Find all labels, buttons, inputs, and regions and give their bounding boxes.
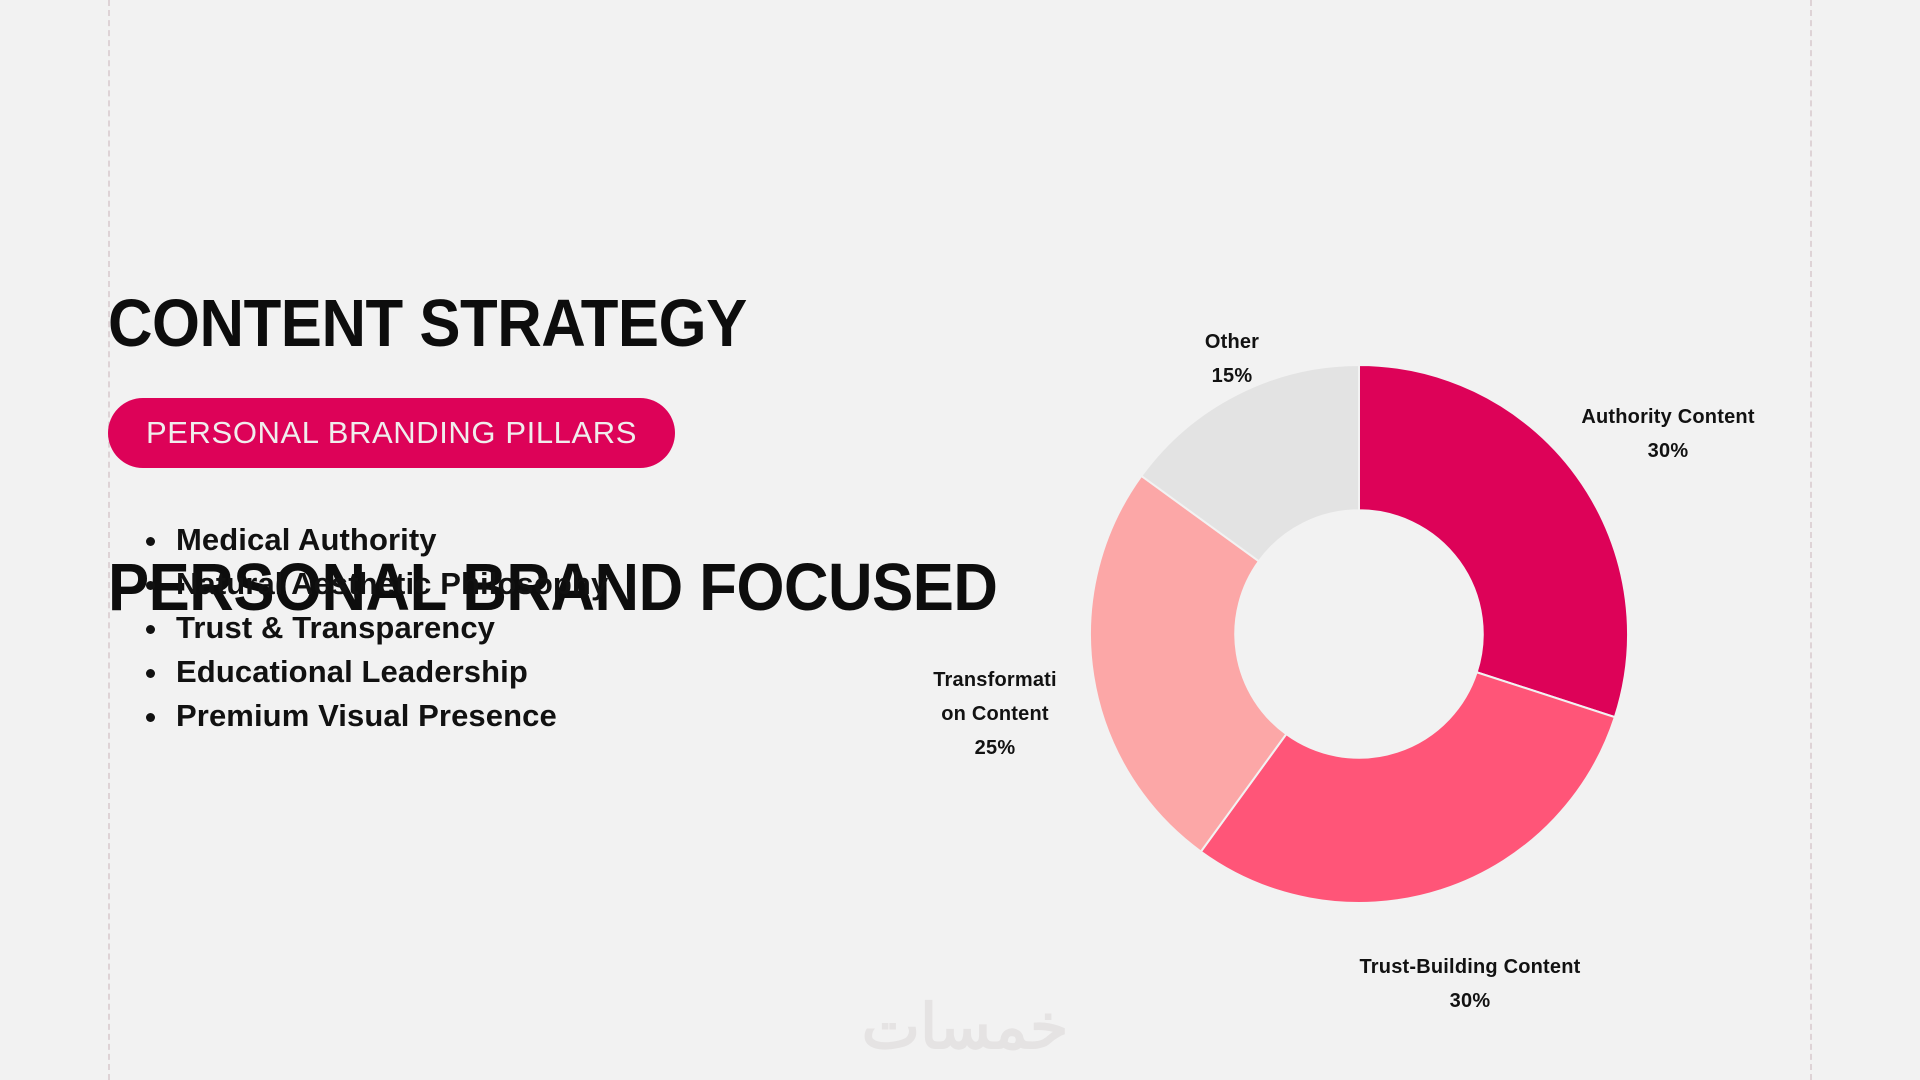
donut-label-authority-value: 30% xyxy=(1538,434,1798,468)
donut-label-transformation-name-line-1: Transformati xyxy=(900,663,1090,697)
slide-canvas: CONTENT STRATEGY PERSONAL BRAND FOCUSED … xyxy=(0,0,1920,1080)
list-item-label: Natural Aesthetic Philosophy xyxy=(176,566,608,601)
donut-label-other-name: Other xyxy=(1152,325,1312,359)
khamsat-watermark: خمسات xyxy=(830,992,1100,1064)
branding-pillars-badge: PERSONAL BRANDING PILLARS xyxy=(108,398,675,468)
donut-label-authority: Authority Content 30% xyxy=(1538,400,1798,468)
branding-pillars-list: Medical Authority Natural Aesthetic Phil… xyxy=(128,518,608,738)
list-item: Medical Authority xyxy=(176,518,608,562)
list-item-label: Trust & Transparency xyxy=(176,610,495,645)
donut-label-other-value: 15% xyxy=(1152,359,1312,393)
list-item: Trust & Transparency xyxy=(176,606,608,650)
branding-pillars-badge-label: PERSONAL BRANDING PILLARS xyxy=(146,415,637,451)
donut-label-transformation: Transformati on Content 25% xyxy=(900,663,1090,765)
donut-label-trust-building: Trust-Building Content 30% xyxy=(1290,950,1650,1018)
list-item-label: Educational Leadership xyxy=(176,654,528,689)
list-item-label: Medical Authority xyxy=(176,522,437,557)
list-item-label: Premium Visual Presence xyxy=(176,698,557,733)
page-title-line-1: CONTENT STRATEGY xyxy=(108,280,997,368)
donut-label-transformation-name-line-2: on Content xyxy=(900,697,1090,731)
donut-label-transformation-value: 25% xyxy=(900,731,1090,765)
donut-label-authority-name: Authority Content xyxy=(1538,400,1798,434)
donut-label-trust-building-name: Trust-Building Content xyxy=(1290,950,1650,984)
margin-guide-right xyxy=(1810,0,1812,1080)
donut-label-other: Other 15% xyxy=(1152,325,1312,393)
donut-slice xyxy=(1201,672,1615,903)
list-item: Educational Leadership xyxy=(176,650,608,694)
list-item: Premium Visual Presence xyxy=(176,694,608,738)
donut-label-trust-building-value: 30% xyxy=(1290,984,1650,1018)
list-item: Natural Aesthetic Philosophy xyxy=(176,562,608,606)
